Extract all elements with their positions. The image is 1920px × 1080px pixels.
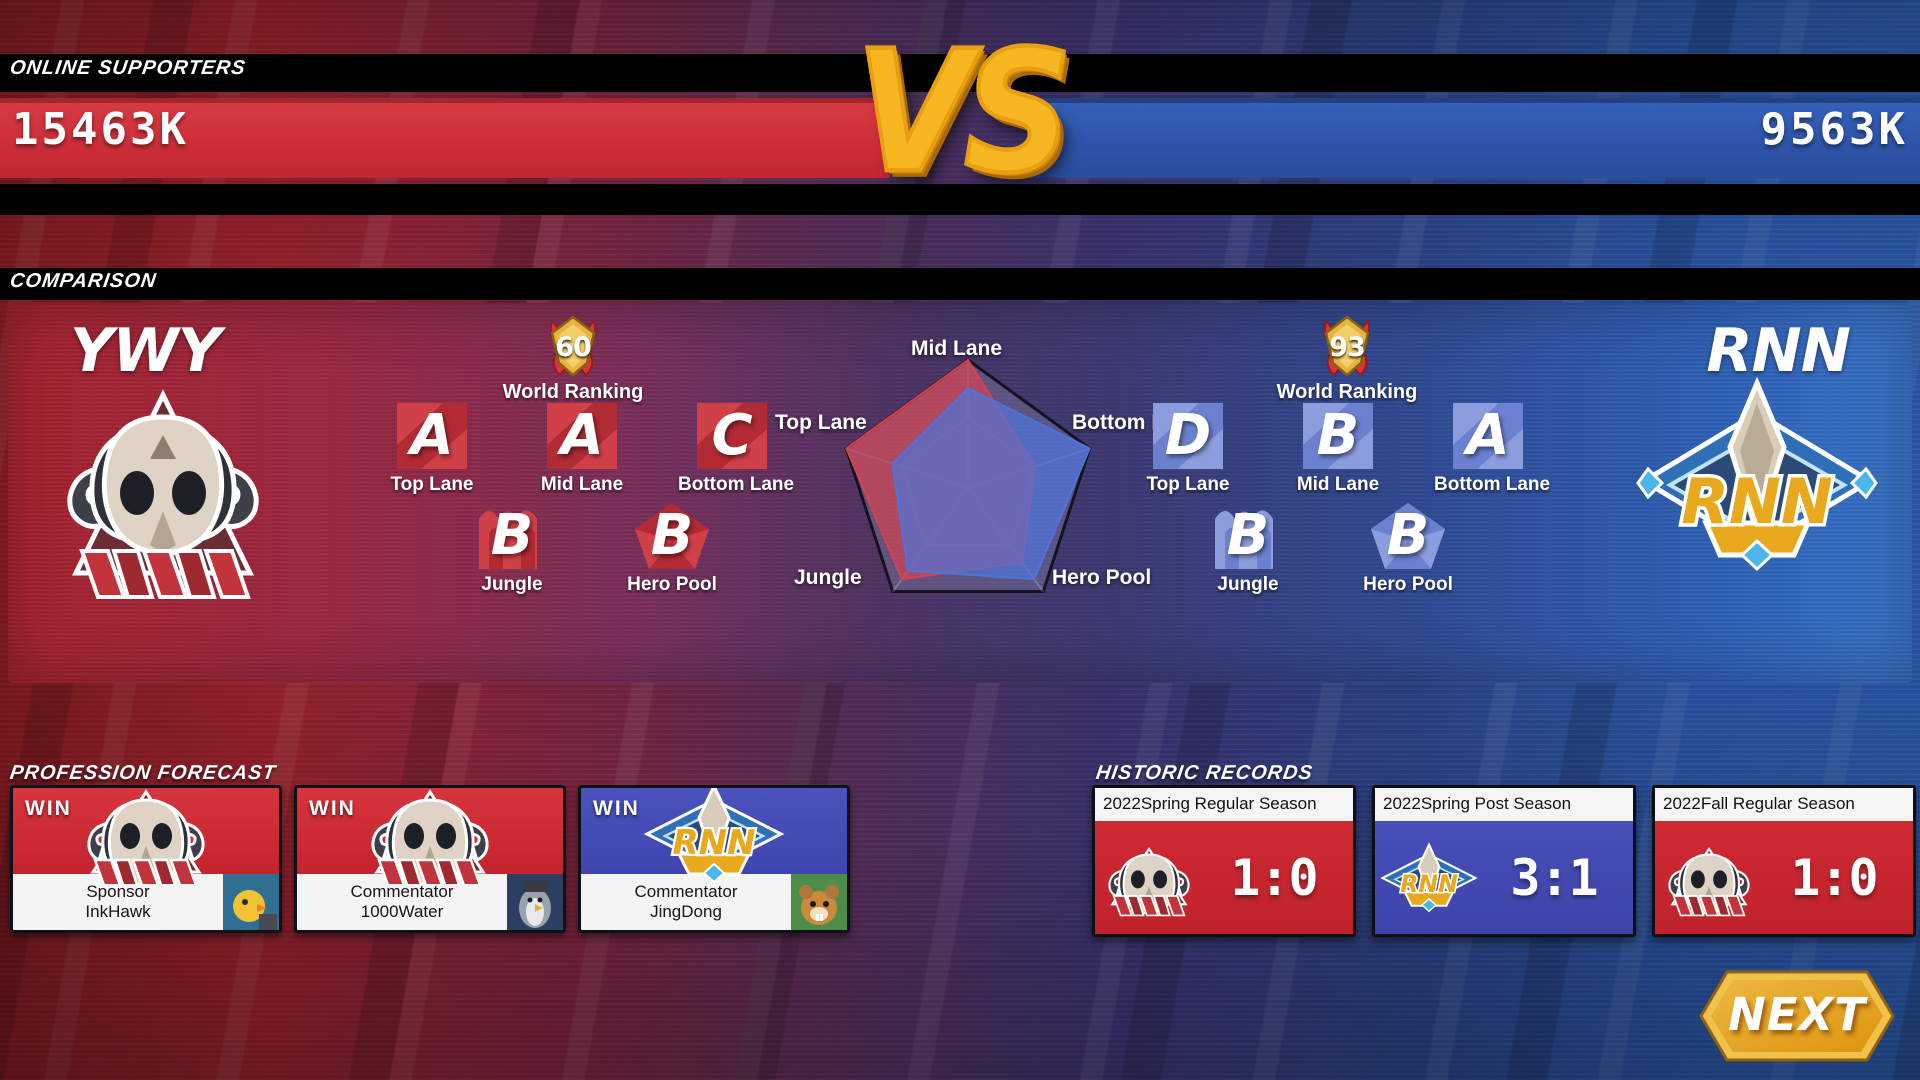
historic-record-card[interactable]: 2022Spring Post Season RNN 3:1 [1372,785,1636,937]
penguin-avatar-icon [507,874,563,930]
left-grade-bottom-lane: C Bottom Lane [678,399,786,496]
forecast-win-badge: WIN [309,797,356,821]
pentagon-badge-icon: B [631,499,713,573]
forecast-card-banner: WIN [13,788,279,874]
profession-forecast-label: PROFESSION FORECAST [8,762,277,785]
hamster-avatar-icon [791,874,847,930]
right-ranking-value: 93 [1314,313,1380,379]
right-grades-top-row: D Top Lane B Mid Lane A Bottom Lane [1134,399,1542,496]
online-supporters-label: ONLINE SUPPORTERS [8,57,247,80]
left-grade-top-lane: A Top Lane [378,399,486,496]
forecast-card[interactable]: WIN Commentator1000Water [294,785,566,933]
right-team-logo: RNN [1632,373,1882,603]
comparison-divider [0,268,1920,300]
historic-winner-logo-ywy [1097,834,1201,922]
forecast-card[interactable]: WIN RNN CommentatorJingDong [578,785,850,933]
next-button[interactable]: NEXT [1697,968,1897,1064]
right-team-name: RNN RNN [1706,321,1850,381]
radar-label-top-lane: Top Lane [775,411,867,435]
radar-chart: Mid Lane Bottom Lane Hero Pool Jungle To… [778,303,1158,673]
left-grade-hero-pool: B Hero Pool [618,499,726,596]
historic-record-body: RNN 3:1 [1375,821,1633,934]
versus-emblem: VS [838,18,1082,218]
comparison-panel: YWY YWY [8,303,1912,683]
square-badge-icon: C [691,399,773,473]
historic-winner-logo-rnn: RNN [1377,834,1481,922]
supporters-header: ONLINE SUPPORTERS 15463K 9563K VS [0,0,1920,215]
square-badge-icon: B [1297,399,1379,473]
right-ranking-badge-icon: 93 [1314,313,1380,379]
left-grades-top-row: A Top Lane A Mid Lane C Bottom Lane [378,399,786,496]
radar-label-hero-pool: Hero Pool [1052,566,1151,590]
left-team-logo [38,373,288,603]
square-badge-icon: A [1447,399,1529,473]
right-grade-hero-pool: B Hero Pool [1354,499,1462,596]
radar-label-mid-lane: Mid Lane [911,337,1002,361]
crown-badge-icon: B [1207,499,1289,573]
left-grade-mid-lane: A Mid Lane [528,399,636,496]
right-supporters-count: 9563K [1761,104,1908,155]
historic-record-title: 2022Fall Regular Season [1655,788,1913,821]
right-grade-jungle: B Jungle [1194,499,1302,596]
forecast-team-logo-ywy [71,785,221,884]
forecast-win-badge: WIN [25,797,72,821]
left-ranking-value: 60 [540,313,606,379]
forecast-person: SponsorInkHawk [13,882,223,921]
historic-record-score: 1:0 [1201,849,1353,907]
historic-record-body: 1:0 [1655,821,1913,934]
historic-record-body: 1:0 [1095,821,1353,934]
next-button-label: NEXT [1697,968,1897,1064]
historic-winner-logo-ywy [1657,834,1761,922]
forecast-team-logo-rnn: RNN [639,785,789,884]
historic-record-title: 2022Spring Post Season [1375,788,1633,821]
historic-record-score: 1:0 [1761,849,1913,907]
square-badge-icon: A [541,399,623,473]
historic-records-list: 2022Spring Regular Season 1:0 2022Spring… [1092,785,1916,937]
right-grades-bottom-row: B Jungle B Hero Pool [1194,499,1462,596]
profession-forecast-list: WIN SponsorInkHawk WIN [10,785,850,933]
left-grades-bottom-row: B Jungle B Hero Pool [458,499,726,596]
forecast-card-banner: WIN RNN [581,788,847,874]
forecast-win-badge: WIN [593,797,640,821]
historic-records-label: HISTORIC RECORDS [1094,762,1314,785]
left-ranking-badge-icon: 60 [540,313,606,379]
forecast-person: Commentator1000Water [297,882,507,921]
left-team-name: YWY YWY [70,321,220,381]
right-grade-mid-lane: B Mid Lane [1284,399,1392,496]
forecast-card-banner: WIN [297,788,563,874]
historic-record-score: 3:1 [1481,849,1633,907]
pentagon-badge-icon: B [1367,499,1449,573]
comparison-section-label: COMPARISON [8,270,158,293]
svg-text:RNN: RNN [1400,869,1458,897]
crown-badge-icon: B [471,499,553,573]
left-supporters-count: 15463K [12,104,189,155]
svg-text:RNN: RNN [672,823,755,863]
right-world-ranking: 93 World Ranking [1237,313,1457,404]
versus-text: VS [838,7,1082,220]
forecast-team-logo-ywy [355,785,505,884]
square-badge-icon: A [391,399,473,473]
svg-text:RNN: RNN [1681,465,1833,538]
radar-label-jungle: Jungle [794,566,862,590]
chick-avatar-icon [223,874,279,930]
left-grade-jungle: B Jungle [458,499,566,596]
forecast-card[interactable]: WIN SponsorInkHawk [10,785,282,933]
forecast-person: CommentatorJingDong [581,882,791,921]
historic-record-card[interactable]: 2022Spring Regular Season 1:0 [1092,785,1356,937]
right-grade-bottom-lane: A Bottom Lane [1434,399,1542,496]
right-grade-top-lane: D Top Lane [1134,399,1242,496]
historic-record-card[interactable]: 2022Fall Regular Season 1:0 [1652,785,1916,937]
historic-record-title: 2022Spring Regular Season [1095,788,1353,821]
left-world-ranking: 60 World Ranking [463,313,683,404]
square-badge-icon: D [1147,399,1229,473]
